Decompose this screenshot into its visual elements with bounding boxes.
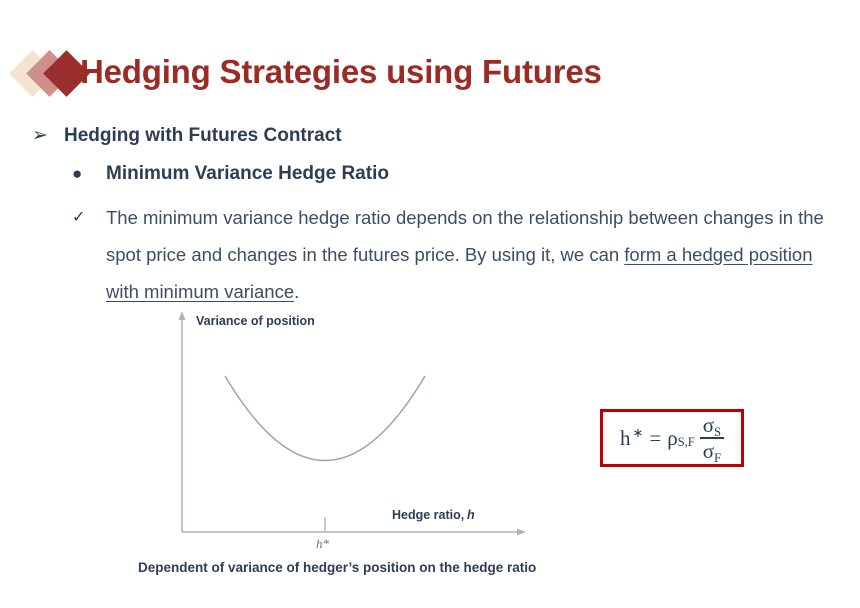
formula-numerator: σS (700, 414, 724, 437)
formula-denominator-subscript: F (714, 451, 721, 465)
y-axis-arrow-icon (179, 311, 186, 320)
formula-lhs: h (620, 426, 633, 451)
page-title: Hedging Strategies using Futures (80, 42, 602, 102)
variance-hedge-ratio-figure: h* Variance of position Hedge ratio, h D… (130, 305, 530, 590)
y-axis-label: Variance of position (196, 314, 315, 328)
x-axis-arrow-icon (517, 529, 526, 536)
hedge-ratio-formula-box: h∗ = ρS,F σS σF (600, 409, 744, 467)
formula-denominator-symbol: σ (703, 439, 714, 463)
outline-level3-paragraph: The minimum variance hedge ratio depends… (106, 199, 842, 310)
hedge-ratio-formula: h∗ = ρS,F σS σF (620, 414, 724, 462)
outline-item-level3: ✓ The minimum variance hedge ratio depen… (72, 199, 842, 310)
figure-caption: Dependent of variance of hedger’s positi… (138, 560, 536, 575)
outline-item-level2: ● Minimum Variance Hedge Ratio (72, 161, 389, 186)
formula-denominator: σF (700, 439, 724, 462)
formula-equals: = (649, 426, 661, 451)
variance-curve (225, 376, 425, 461)
slide-header: Hedging Strategies using Futures (0, 42, 860, 104)
check-bullet-icon: ✓ (72, 199, 106, 236)
formula-rho: ρ (667, 426, 677, 451)
arrow-bullet-icon: ➢ (32, 124, 64, 148)
formula-fraction: σS σF (700, 414, 724, 462)
paragraph-text-tail: . (294, 281, 299, 302)
outline-item-level1: ➢ Hedging with Futures Contract (32, 124, 342, 148)
formula-numerator-symbol: σ (703, 413, 714, 437)
formula-rho-subscript: S,F (678, 435, 695, 450)
x-axis-label-variable: h (467, 508, 475, 522)
figure-svg: h* Variance of position Hedge ratio, h (130, 305, 530, 555)
outline-level2-label: Minimum Variance Hedge Ratio (106, 161, 389, 186)
x-axis-label: Hedge ratio, (392, 508, 464, 522)
formula-lhs-star: ∗ (632, 425, 643, 441)
formula-numerator-subscript: S (714, 425, 721, 439)
h-star-tick-label: h* (316, 536, 330, 551)
dot-bullet-icon: ● (72, 161, 106, 186)
outline-level1-label: Hedging with Futures Contract (64, 124, 342, 148)
